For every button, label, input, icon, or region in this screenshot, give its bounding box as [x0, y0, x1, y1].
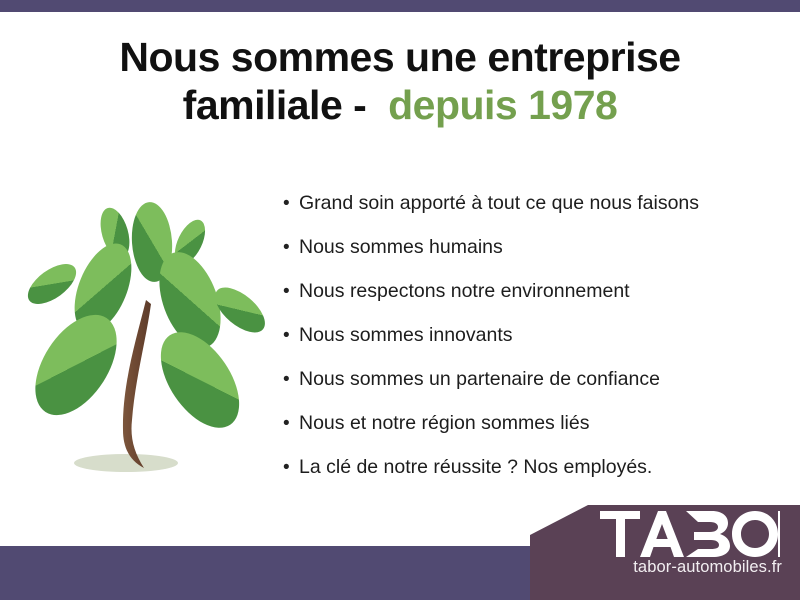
bullet-dot-icon: • [283, 458, 299, 477]
title-line-2-accent: depuis 1978 [388, 82, 617, 128]
list-item-label: La clé de notre réussite ? Nos employés. [299, 456, 652, 479]
brand-logo-badge[interactable]: tabor-automobiles.fr [530, 505, 800, 600]
list-item: • La clé de notre réussite ? Nos employé… [283, 456, 783, 500]
list-item-label: Nous et notre région sommes liés [299, 412, 589, 435]
list-item: • Grand soin apporté à tout ce que nous … [283, 192, 783, 236]
page-title: Nous sommes une entreprise familiale - d… [0, 34, 800, 129]
leaf-mid-far-left [21, 256, 83, 312]
list-item: • Nous respectons notre environnement [283, 280, 783, 324]
list-item: • Nous sommes humains [283, 236, 783, 280]
top-accent-band [0, 0, 800, 12]
list-item-label: Nous sommes humains [299, 236, 503, 259]
bullet-dot-icon: • [283, 326, 299, 345]
list-item-label: Grand soin apporté à tout ce que nous fa… [299, 192, 699, 215]
bullet-dot-icon: • [283, 414, 299, 433]
list-item: • Nous sommes un partenaire de confiance [283, 368, 783, 412]
bullet-dot-icon: • [283, 370, 299, 389]
slide-canvas: Nous sommes une entreprise familiale - d… [0, 0, 800, 600]
benefits-list: • Grand soin apporté à tout ce que nous … [283, 192, 783, 500]
tree-shadow [74, 454, 178, 472]
list-item-label: Nous respectons notre environnement [299, 280, 630, 303]
leaf-lower-left [19, 301, 134, 430]
tabor-wordmark-icon [600, 511, 780, 557]
title-line-2: familiale - depuis 1978 [0, 82, 800, 130]
bullet-dot-icon: • [283, 194, 299, 213]
bullet-dot-icon: • [283, 282, 299, 301]
title-line-2-plain: familiale - [183, 82, 367, 128]
tree-illustration [18, 180, 282, 485]
title-line-1: Nous sommes une entreprise [0, 34, 800, 82]
list-item: • Nous et notre région sommes liés [283, 412, 783, 456]
tree-trunk [123, 300, 151, 468]
list-item-label: Nous sommes innovants [299, 324, 513, 347]
list-item: • Nous sommes innovants [283, 324, 783, 368]
bullet-dot-icon: • [283, 238, 299, 257]
list-item-label: Nous sommes un partenaire de confiance [299, 368, 660, 391]
logo-website-url[interactable]: tabor-automobiles.fr [530, 558, 800, 577]
